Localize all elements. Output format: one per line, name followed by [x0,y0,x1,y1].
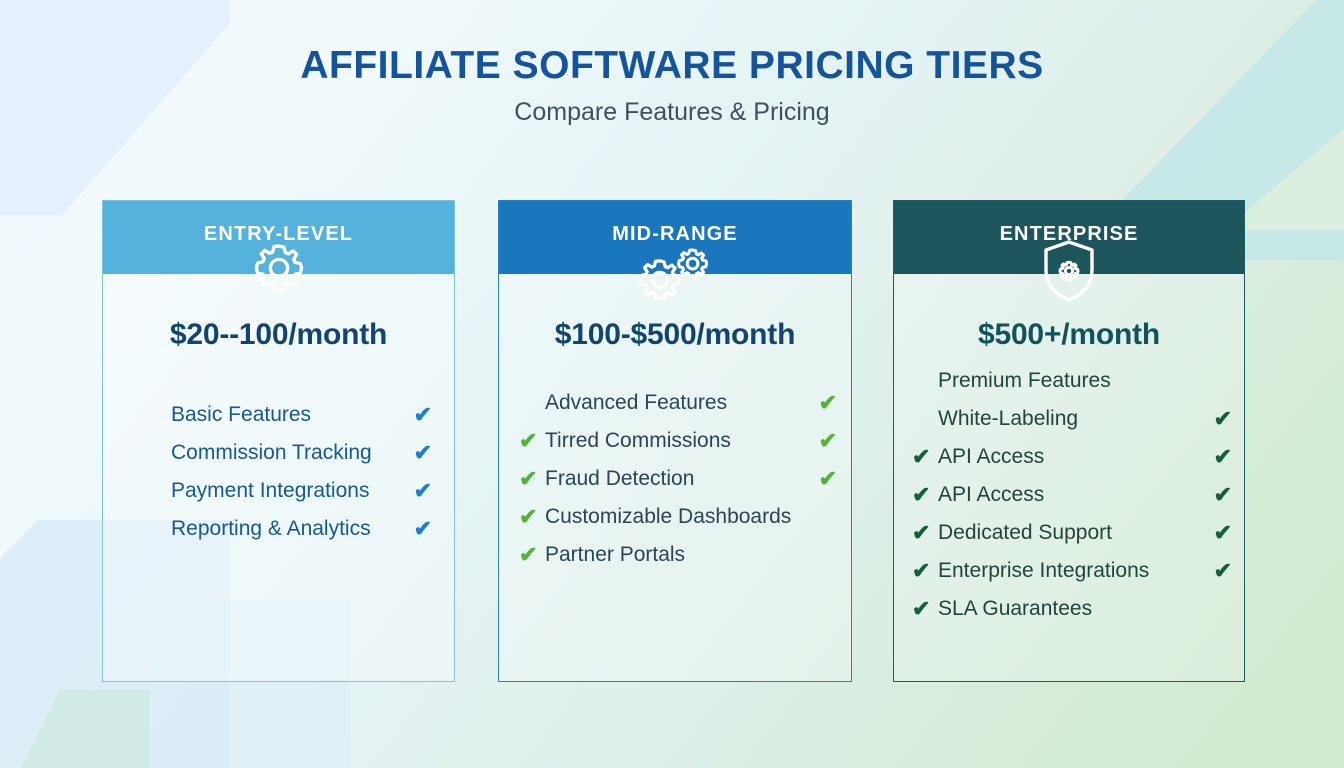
feature-row: ✔ Fraud Detection ✔ [519,460,837,498]
check-icon-left: ✔ [912,446,938,468]
page-title: AFFILIATE SOFTWARE PRICING TIERS [0,46,1344,87]
feature-label: API Access [938,445,1206,469]
feature-label: White-Labeling [938,407,1206,431]
price-enterprise: $500+/month [894,318,1244,352]
feature-label: Tirred Commissions [545,429,811,453]
check-icon-left: ✔ [519,430,545,452]
price-mid-range: $100-$500/month [499,318,851,352]
check-icon-right: ✔ [406,518,432,540]
shield-gear-icon [1021,238,1117,300]
pricing-card-mid-range[interactable]: MID-RANGE $100-$500/month ✔ Advan [498,200,852,682]
feature-row: ✔ SLA Guarantees ✔ [912,590,1232,628]
feature-row: ✔ Enterprise Integrations ✔ [912,552,1232,590]
feature-row: ✔ Partner Portals ✔ [519,536,837,574]
feature-label: Advanced Features [545,391,811,415]
feature-row: ✔ Advanced Features ✔ [519,384,837,422]
feature-list-mid-range: ✔ Advanced Features ✔ ✔ Tirred Commissio… [499,384,851,574]
feature-label: Partner Portals [545,543,811,567]
feature-label: Customizable Dashboards [545,505,811,529]
feature-list-enterprise: ✔ Premium Features ✔ ✔ White-Labeling ✔ … [894,362,1244,628]
feature-label: Enterprise Integrations [938,559,1206,583]
feature-label: Fraud Detection [545,467,811,491]
feature-row: ✔ API Access ✔ [912,438,1232,476]
check-icon-right: ✔ [811,392,837,414]
check-icon-right: ✔ [1206,446,1232,468]
gear-icon [231,238,327,300]
price-entry-level: $20--100/month [103,318,454,352]
check-icon-right: ✔ [811,430,837,452]
check-icon-left: ✔ [519,468,545,490]
feature-list-entry-level: ✔ Basic Features ✔ ✔ Commission Tracking… [103,396,454,548]
check-icon-right: ✔ [1206,408,1232,430]
check-icon-right: ✔ [406,480,432,502]
feature-label: Reporting & Analytics [171,517,406,541]
page-subtitle: Compare Features & Pricing [0,99,1344,127]
feature-row: ✔ Commission Tracking ✔ [145,434,432,472]
check-icon-right: ✔ [1206,560,1232,582]
infographic-canvas: AFFILIATE SOFTWARE PRICING TIERS Compare… [0,0,1344,768]
check-icon-left: ✔ [912,598,938,620]
card-header-enterprise: ENTERPRISE [894,201,1244,274]
feature-label: SLA Guarantees [938,597,1206,621]
feature-row: ✔ Tirred Commissions ✔ [519,422,837,460]
page-header: AFFILIATE SOFTWARE PRICING TIERS Compare… [0,46,1344,126]
check-icon-left: ✔ [519,506,545,528]
check-icon-left: ✔ [519,544,545,566]
feature-label: Dedicated Support [938,521,1206,545]
decor-polygon-bottom-right [0,690,150,768]
check-icon-right: ✔ [1206,484,1232,506]
feature-label: API Access [938,483,1206,507]
check-icon-right: ✔ [406,404,432,426]
card-header-entry-level: ENTRY-LEVEL [103,201,454,274]
feature-row: ✔ Payment Integrations ✔ [145,472,432,510]
feature-row: ✔ Premium Features ✔ [912,362,1232,400]
feature-row: ✔ Customizable Dashboards ✔ [519,498,837,536]
feature-row: ✔ Dedicated Support ✔ [912,514,1232,552]
check-icon-right: ✔ [406,442,432,464]
feature-row: ✔ Basic Features ✔ [145,396,432,434]
feature-row: ✔ API Access ✔ [912,476,1232,514]
feature-row: ✔ Reporting & Analytics ✔ [145,510,432,548]
pricing-card-enterprise[interactable]: ENTERPRISE $500+/month ✔ Premium Feature… [893,200,1245,682]
feature-row: ✔ White-Labeling ✔ [912,400,1232,438]
card-header-mid-range: MID-RANGE [499,201,851,274]
feature-label: Payment Integrations [171,479,406,503]
feature-label: Commission Tracking [171,441,406,465]
feature-label: Basic Features [171,403,406,427]
feature-label: Premium Features [938,369,1206,393]
check-icon-right: ✔ [811,468,837,490]
check-icon-left: ✔ [912,522,938,544]
check-icon-left: ✔ [912,560,938,582]
pricing-card-entry-level[interactable]: ENTRY-LEVEL $20--100/month ✔ Basic Featu… [102,200,455,682]
double-gear-icon [627,238,723,300]
check-icon-left: ✔ [912,484,938,506]
check-icon-right: ✔ [1206,522,1232,544]
